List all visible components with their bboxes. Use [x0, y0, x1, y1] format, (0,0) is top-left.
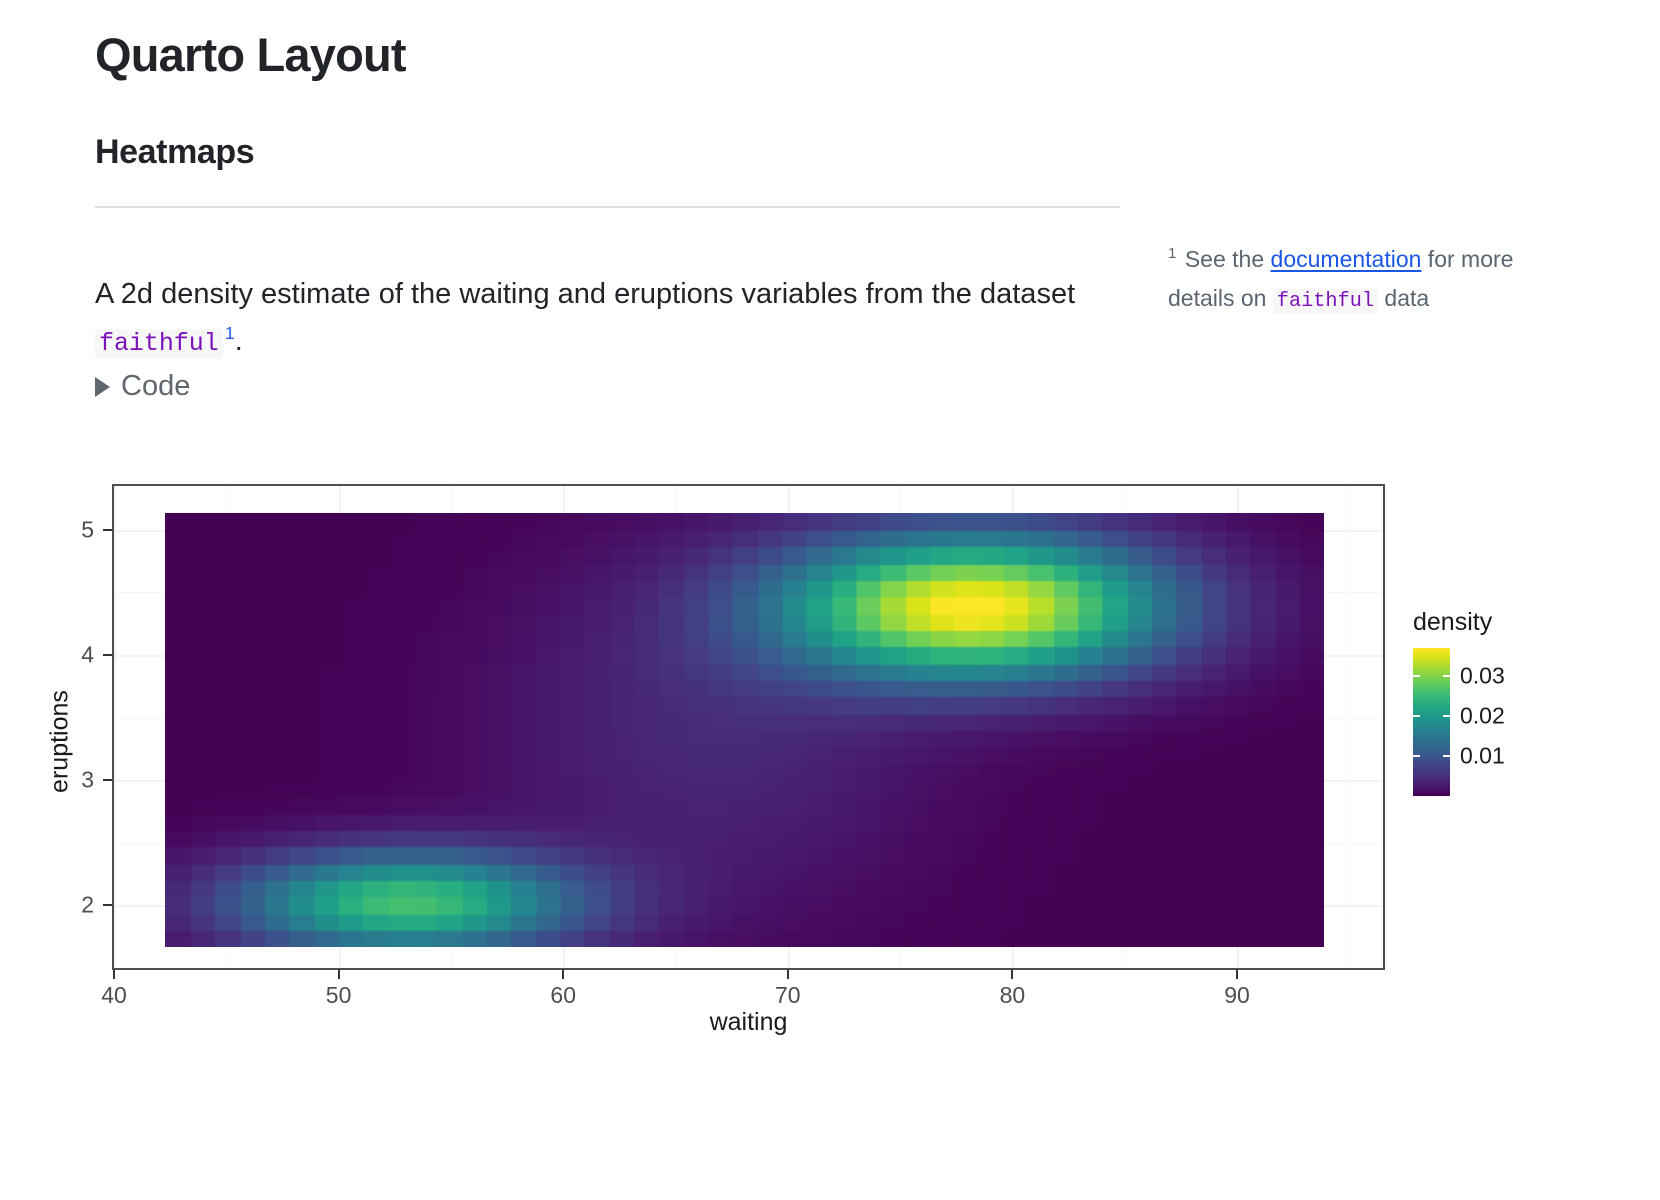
- x-tick-label: 70: [775, 982, 801, 1009]
- margin-note-text-after-code: data: [1378, 285, 1429, 311]
- y-tick-mark: [103, 529, 112, 531]
- legend-tick-label: 0.03: [1460, 663, 1505, 690]
- section-divider: [95, 206, 1120, 208]
- gridline-minor-vertical: [1349, 486, 1350, 968]
- y-tick-label: 4: [81, 642, 94, 669]
- gridline-minor-horizontal: [114, 968, 1383, 969]
- legend-tick-mark: [1443, 755, 1450, 757]
- code-disclosure-label: Code: [121, 372, 190, 401]
- x-tick-label: 80: [1000, 982, 1026, 1009]
- x-tick-label: 40: [101, 982, 127, 1009]
- documentation-link[interactable]: documentation: [1271, 246, 1422, 272]
- x-tick-label: 60: [550, 982, 576, 1009]
- x-tick-mark: [562, 970, 564, 979]
- y-tick-label: 5: [81, 516, 94, 543]
- y-tick-mark: [103, 779, 112, 781]
- x-tick-mark: [338, 970, 340, 979]
- legend-tick-mark: [1413, 715, 1420, 717]
- margin-inline-code-faithful: faithful: [1273, 289, 1378, 314]
- margin-note: 1 See the documentation for more details…: [1168, 240, 1528, 319]
- page-title: Quarto Layout: [95, 28, 406, 82]
- gridline-major-vertical: [114, 486, 116, 968]
- triangle-right-icon: [95, 377, 110, 397]
- y-tick-mark: [103, 904, 112, 906]
- code-disclosure-toggle[interactable]: Code: [95, 372, 190, 401]
- footnote-reference[interactable]: 1: [225, 323, 235, 343]
- body-text-before-code: A 2d density estimate of the waiting and…: [95, 278, 1075, 310]
- x-tick-label: 50: [326, 982, 352, 1009]
- x-tick-mark: [113, 970, 115, 979]
- heatmap-figure: 2345 405060708090 waiting eruptions dens…: [0, 430, 1660, 1090]
- legend-tick-mark: [1443, 675, 1450, 677]
- margin-note-text-before-link: See the: [1178, 246, 1270, 272]
- y-tick-label: 2: [81, 892, 94, 919]
- body-paragraph: A 2d density estimate of the waiting and…: [95, 271, 1095, 365]
- legend-title: density: [1413, 608, 1492, 637]
- section-heading: Heatmaps: [95, 132, 254, 173]
- document-page: Quarto Layout Heatmaps A 2d density esti…: [0, 0, 1660, 1200]
- legend-colorbar: [1413, 648, 1450, 796]
- plot-panel: [112, 484, 1385, 970]
- legend-tick-label: 0.01: [1460, 743, 1505, 770]
- legend-tick-label: 0.02: [1460, 703, 1505, 730]
- x-tick-mark: [1011, 970, 1013, 979]
- x-tick-mark: [787, 970, 789, 979]
- body-text-after-code: .: [235, 325, 243, 357]
- y-axis-title: eruptions: [46, 642, 75, 842]
- x-tick-mark: [1236, 970, 1238, 979]
- legend-tick-mark: [1413, 675, 1420, 677]
- legend-tick-mark: [1443, 715, 1450, 717]
- footnote-number: 1: [1168, 245, 1176, 262]
- x-tick-label: 90: [1224, 982, 1250, 1009]
- heatmap-raster: [165, 513, 1324, 947]
- legend-tick-mark: [1413, 755, 1420, 757]
- x-axis-title: waiting: [112, 1008, 1385, 1037]
- y-tick-mark: [103, 654, 112, 656]
- y-tick-label: 3: [81, 767, 94, 794]
- inline-code-faithful: faithful: [95, 329, 223, 359]
